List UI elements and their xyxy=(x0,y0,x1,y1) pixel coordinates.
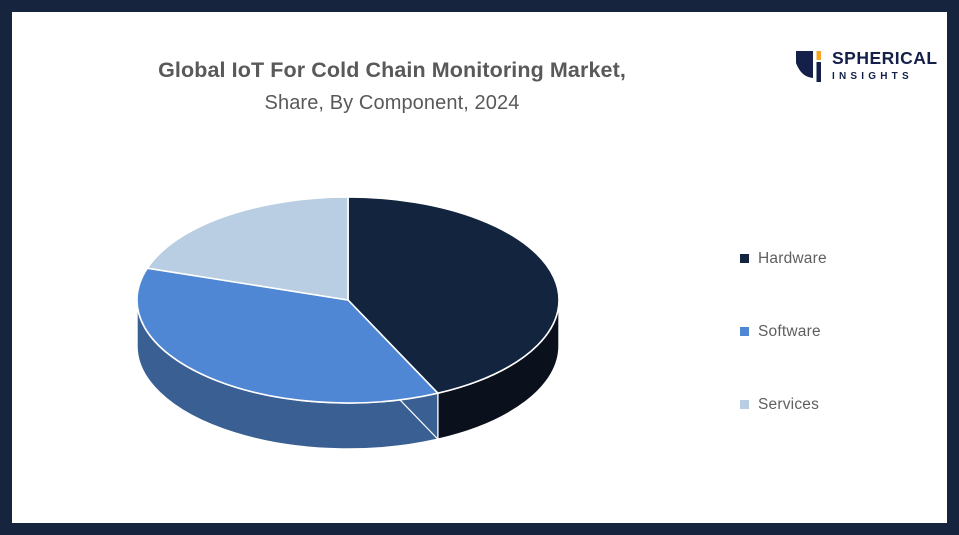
logo-primary-text: SPHERICAL xyxy=(832,50,938,68)
chart-page: SPHERICAL INSIGHTS Global IoT For Cold C… xyxy=(0,0,959,535)
chart-title-line-2: Share, By Component, 2024 xyxy=(72,92,712,115)
legend-swatch-services xyxy=(740,400,749,409)
pie-side-software xyxy=(137,300,438,449)
pie-slice-software[interactable] xyxy=(137,268,438,403)
legend-swatch-software xyxy=(740,327,749,336)
pie-radial-wall xyxy=(348,300,438,439)
legend-label-software: Software xyxy=(758,323,821,341)
spherical-logo-mark-icon xyxy=(796,51,826,82)
pie-top-faces xyxy=(137,197,559,403)
pie-3d-sides xyxy=(137,300,559,449)
pie-side-hardware xyxy=(438,300,559,439)
chart-legend: Hardware Software Services xyxy=(740,222,920,441)
logo-secondary-text: INSIGHTS xyxy=(832,72,938,82)
legend-item-services[interactable]: Services xyxy=(740,368,920,441)
chart-canvas: SPHERICAL INSIGHTS Global IoT For Cold C… xyxy=(12,12,947,523)
legend-label-services: Services xyxy=(758,396,819,414)
logo-wordmark: SPHERICAL INSIGHTS xyxy=(832,50,938,82)
chart-title-line-1: Global IoT For Cold Chain Monitoring Mar… xyxy=(72,58,712,83)
chart-title-block: Global IoT For Cold Chain Monitoring Mar… xyxy=(72,58,712,115)
pie-slice-hardware[interactable] xyxy=(348,197,559,393)
legend-item-hardware[interactable]: Hardware xyxy=(740,222,920,295)
spherical-insights-logo: SPHERICAL INSIGHTS xyxy=(796,44,918,88)
pie-radial-wall xyxy=(348,300,438,439)
pie-slice-services[interactable] xyxy=(147,197,348,300)
legend-swatch-hardware xyxy=(740,254,749,263)
legend-item-software[interactable]: Software xyxy=(740,295,920,368)
legend-label-hardware: Hardware xyxy=(758,250,827,268)
